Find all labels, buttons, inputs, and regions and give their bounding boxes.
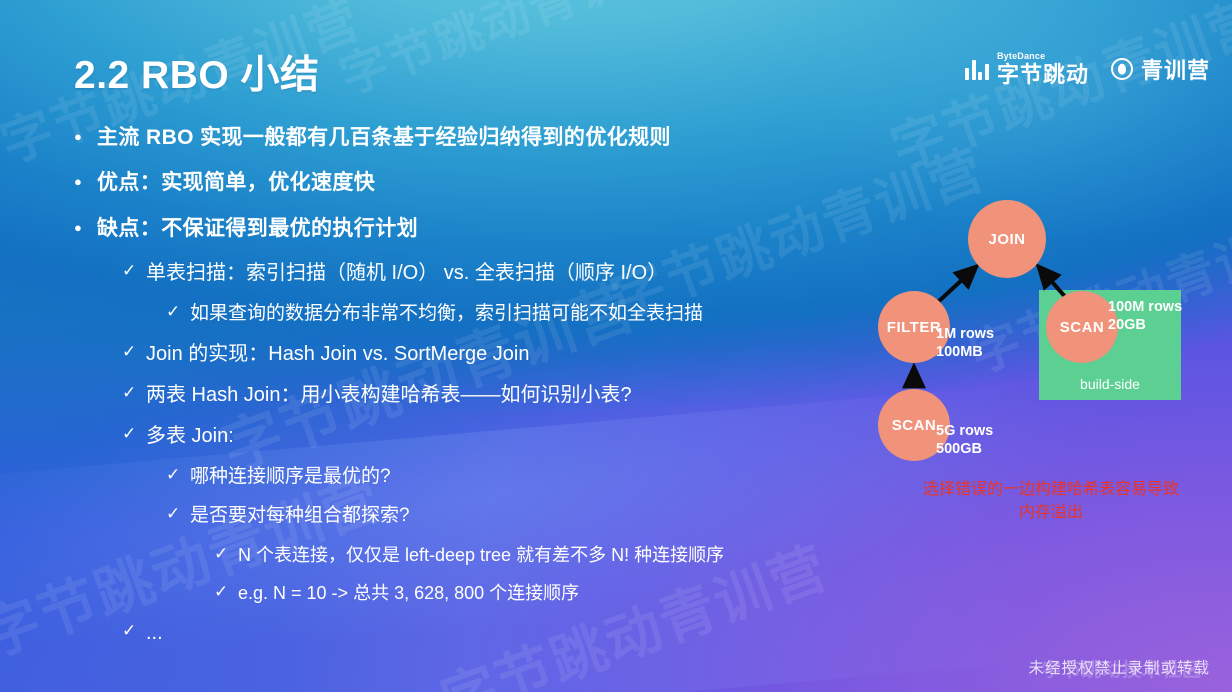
qingxunying-logo: 青训营 xyxy=(1111,53,1210,85)
bullet-text: N 个表连接，仅仅是 left-deep tree 就有差不多 N! 种连接顺序 xyxy=(238,543,724,567)
check-icon: ✓ xyxy=(166,464,190,487)
bullet-text: e.g. N = 10 -> 总共 3, 628, 800 个连接顺序 xyxy=(238,581,579,605)
label-scan-right-size: 20GB xyxy=(1108,316,1182,334)
warning-annotation: 选择错误的一边构建哈希表容易导致内存溢出 xyxy=(920,478,1182,524)
node-join: JOIN xyxy=(968,200,1046,278)
check-icon: ✓ xyxy=(166,503,190,526)
bullet-item: ✓e.g. N = 10 -> 总共 3, 628, 800 个连接顺序 xyxy=(74,581,874,605)
check-icon: ✓ xyxy=(214,581,238,604)
qingxunying-mark-icon xyxy=(1111,58,1133,80)
bullet-text: 是否要对每种组合都探索? xyxy=(190,503,410,529)
bytedance-logo-en: ByteDance xyxy=(997,52,1089,61)
bullet-item: ●主流 RBO 实现一般都有几百条基于经验归纳得到的优化规则 xyxy=(74,124,874,152)
bullet-item: ●缺点：不保证得到最优的执行计划 xyxy=(74,215,874,243)
bytedance-logo-cn: 字节跳动 xyxy=(997,64,1089,86)
check-icon: ✓ xyxy=(122,423,146,446)
bullet-item: ✓N 个表连接，仅仅是 left-deep tree 就有差不多 N! 种连接顺… xyxy=(74,543,874,567)
bullet-dot-icon: ● xyxy=(74,124,97,150)
footer-notice: 未经授权禁止录制或转载 xyxy=(1028,656,1210,678)
bullet-text: 哪种连接顺序是最优的? xyxy=(190,464,391,490)
qingxunying-logo-cn: 青训营 xyxy=(1141,53,1210,85)
label-filter-size: 100MB xyxy=(936,343,994,361)
bullet-text: 单表扫描：索引扫描（随机 I/O） vs. 全表扫描（顺序 I/O） xyxy=(146,260,667,287)
edge-filter-to-join xyxy=(938,266,977,302)
bullet-dot-icon: ● xyxy=(74,169,97,195)
bullet-text: 多表 Join: xyxy=(146,423,234,450)
bullet-item: ✓是否要对每种组合都探索? xyxy=(74,503,874,529)
check-icon: ✓ xyxy=(214,543,238,566)
check-icon: ✓ xyxy=(122,341,146,364)
label-scan-bottom-size: 500GB xyxy=(936,440,993,458)
label-scan-right-rows: 100M rows xyxy=(1108,298,1182,316)
bullet-item: ✓两表 Hash Join：用小表构建哈希表——如何识别小表? xyxy=(74,382,874,409)
check-icon: ✓ xyxy=(122,620,146,643)
label-scan-bottom-rows: 5G rows xyxy=(936,422,993,440)
bullet-dot-icon: ● xyxy=(74,215,97,241)
bullet-item: ✓哪种连接顺序是最优的? xyxy=(74,464,874,490)
bytedance-logo: ByteDance 字节跳动 xyxy=(965,52,1089,86)
bullet-item: ✓如果查询的数据分布非常不均衡，索引扫描可能不如全表扫描 xyxy=(74,301,874,327)
label-scan-right-stats: 100M rows 20GB xyxy=(1108,298,1182,334)
bytedance-logo-text: ByteDance 字节跳动 xyxy=(997,52,1089,86)
check-icon: ✓ xyxy=(122,382,146,405)
page-title: 2.2 RBO 小结 xyxy=(74,44,320,100)
bullet-text: Join 的实现：Hash Join vs. SortMerge Join xyxy=(146,341,529,368)
label-scan-bottom-stats: 5G rows 500GB xyxy=(936,422,993,458)
bytedance-bars-icon xyxy=(965,58,989,80)
bullet-text: 如果查询的数据分布非常不均衡，索引扫描可能不如全表扫描 xyxy=(190,301,703,327)
bullet-item: ✓单表扫描：索引扫描（随机 I/O） vs. 全表扫描（顺序 I/O） xyxy=(74,260,874,287)
check-icon: ✓ xyxy=(166,301,190,324)
logo-group: ByteDance 字节跳动 青训营 xyxy=(965,52,1210,86)
bullet-item: ●优点：实现简单，优化速度快 xyxy=(74,169,874,197)
label-filter-stats: 1M rows 100MB xyxy=(936,325,994,361)
bullet-item: ✓... xyxy=(74,620,874,647)
check-icon: ✓ xyxy=(122,260,146,283)
bullet-text: 两表 Hash Join：用小表构建哈希表——如何识别小表? xyxy=(146,382,632,409)
bullet-item: ✓Join 的实现：Hash Join vs. SortMerge Join xyxy=(74,341,874,368)
label-filter-rows: 1M rows xyxy=(936,325,994,343)
bullet-list: ●主流 RBO 实现一般都有几百条基于经验归纳得到的优化规则●优点：实现简单，优… xyxy=(74,124,874,661)
slide-canvas: 字节跳动青训营 字节跳动青训营 字节跳动青训营 字节跳动青训营 字节跳动青训营 … xyxy=(0,0,1232,692)
bullet-text: ... xyxy=(146,620,163,647)
bullet-text: 优点：实现简单，优化速度快 xyxy=(97,169,375,197)
bullet-text: 缺点：不保证得到最优的执行计划 xyxy=(97,215,418,243)
bullet-text: 主流 RBO 实现一般都有几百条基于经验归纳得到的优化规则 xyxy=(97,124,671,152)
bullet-item: ✓多表 Join: xyxy=(74,423,874,450)
